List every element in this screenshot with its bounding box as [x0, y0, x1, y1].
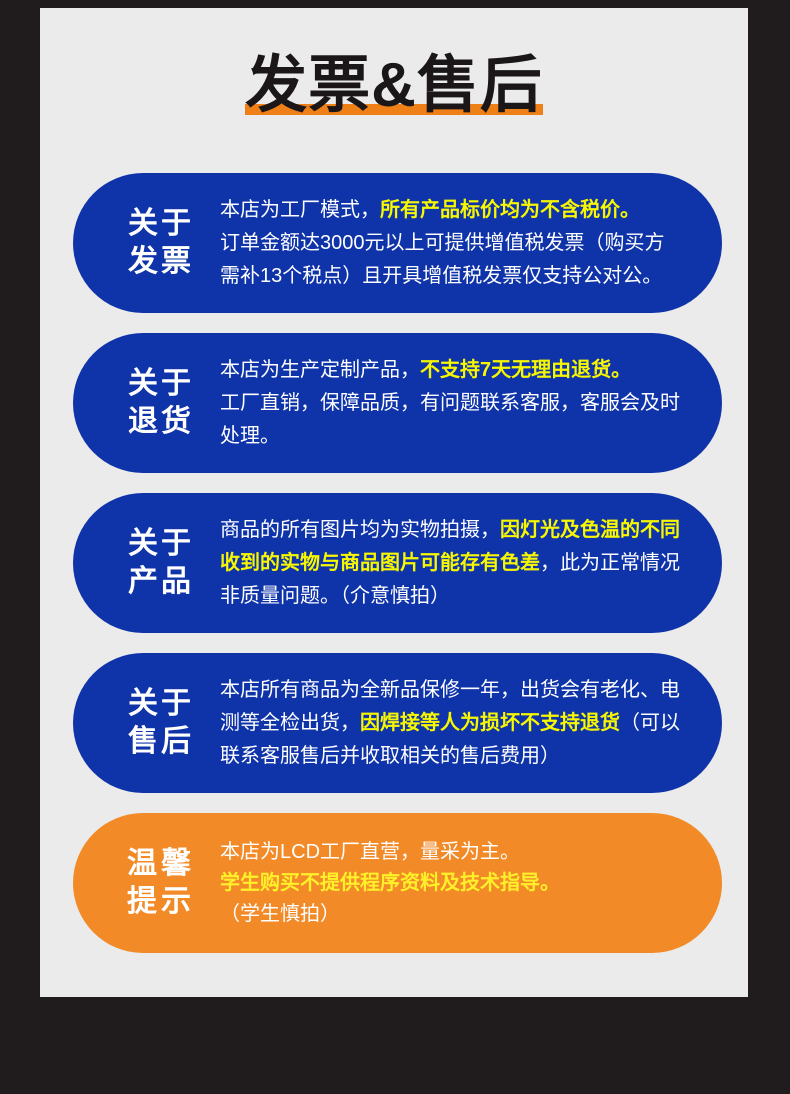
body-text: 本店为LCD工厂直营，量采为主。 [220, 841, 520, 863]
header: 发票&售后 [40, 8, 748, 168]
highlighted-text: 所有产品标价均为不含税价。 [380, 199, 640, 221]
card-text-line: 工厂直销，保障品质，有问题联系客服，客服会及时处理。 [220, 387, 684, 453]
card-body-invoice: 本店为工厂模式，所有产品标价均为不含税价。订单金额达3000元以上可提供增值税发… [217, 194, 722, 293]
card-text-line: 本店为LCD工厂直营，量采为主。 [220, 837, 684, 868]
card-label-tips: 温馨 提示 [105, 845, 217, 921]
card-body-return: 本店为生产定制产品，不支持7天无理由退货。工厂直销，保障品质，有问题联系客服，客… [217, 354, 722, 453]
info-card-tips: 温馨 提示本店为LCD工厂直营，量采为主。学生购买不提供程序资料及技术指导。（学… [73, 813, 722, 953]
body-text: 订单金额达3000元以上可提供增值税发票（购买方需补13个税点）且开具增值税发票… [220, 232, 665, 287]
card-body-product: 商品的所有图片均为实物拍摄，因灯光及色温的不同收到的实物与商品图片可能存有色差，… [217, 514, 722, 613]
card-body-tips: 本店为LCD工厂直营，量采为主。学生购买不提供程序资料及技术指导。（学生慎拍） [217, 837, 722, 930]
card-text-line: （学生慎拍） [220, 899, 684, 930]
body-text: 商品的所有图片均为实物拍摄， [220, 519, 500, 541]
body-text: 本店为工厂模式， [220, 199, 380, 221]
highlighted-text: 不支持7天无理由退货。 [420, 359, 631, 381]
info-card-after-sales: 关于 售后本店所有商品为全新品保修一年，出货会有老化、电测等全检出货，因焊接等人… [73, 653, 722, 793]
card-text-line: 本店为工厂模式，所有产品标价均为不含税价。 [220, 194, 684, 227]
card-text-line: 商品的所有图片均为实物拍摄，因灯光及色温的不同收到的实物与商品图片可能存有色差，… [220, 514, 684, 613]
card-label-after-sales: 关于 售后 [105, 685, 217, 761]
highlighted-text: 学生购买不提供程序资料及技术指导。 [220, 872, 560, 894]
card-label-return: 关于 退货 [105, 365, 217, 441]
card-label-product: 关于 产品 [105, 525, 217, 601]
info-card-list: 关于 发票本店为工厂模式，所有产品标价均为不含税价。订单金额达3000元以上可提… [73, 173, 722, 973]
body-text: 本店为生产定制产品， [220, 359, 420, 381]
page-root: 发票&售后 关于 发票本店为工厂模式，所有产品标价均为不含税价。订单金额达300… [0, 0, 790, 1094]
card-text-line: 本店为生产定制产品，不支持7天无理由退货。 [220, 354, 684, 387]
info-card-return: 关于 退货本店为生产定制产品，不支持7天无理由退货。工厂直销，保障品质，有问题联… [73, 333, 722, 473]
info-card-invoice: 关于 发票本店为工厂模式，所有产品标价均为不含税价。订单金额达3000元以上可提… [73, 173, 722, 313]
content-panel: 发票&售后 关于 发票本店为工厂模式，所有产品标价均为不含税价。订单金额达300… [40, 8, 748, 997]
card-text-line: 本店所有商品为全新品保修一年，出货会有老化、电测等全检出货，因焊接等人为损坏不支… [220, 674, 684, 773]
card-body-after-sales: 本店所有商品为全新品保修一年，出货会有老化、电测等全检出货，因焊接等人为损坏不支… [217, 674, 722, 773]
card-text-line: 学生购买不提供程序资料及技术指导。 [220, 868, 684, 899]
highlighted-text: 因焊接等人为损坏不支持退货 [360, 712, 620, 734]
page-title-text: 发票&售后 [245, 51, 543, 120]
card-text-line: 订单金额达3000元以上可提供增值税发票（购买方需补13个税点）且开具增值税发票… [220, 227, 684, 293]
info-card-product: 关于 产品商品的所有图片均为实物拍摄，因灯光及色温的不同收到的实物与商品图片可能… [73, 493, 722, 633]
card-label-invoice: 关于 发票 [105, 205, 217, 281]
body-text: 工厂直销，保障品质，有问题联系客服，客服会及时处理。 [220, 392, 680, 447]
body-text: （学生慎拍） [220, 903, 340, 925]
page-title: 发票&售后 [241, 54, 547, 118]
